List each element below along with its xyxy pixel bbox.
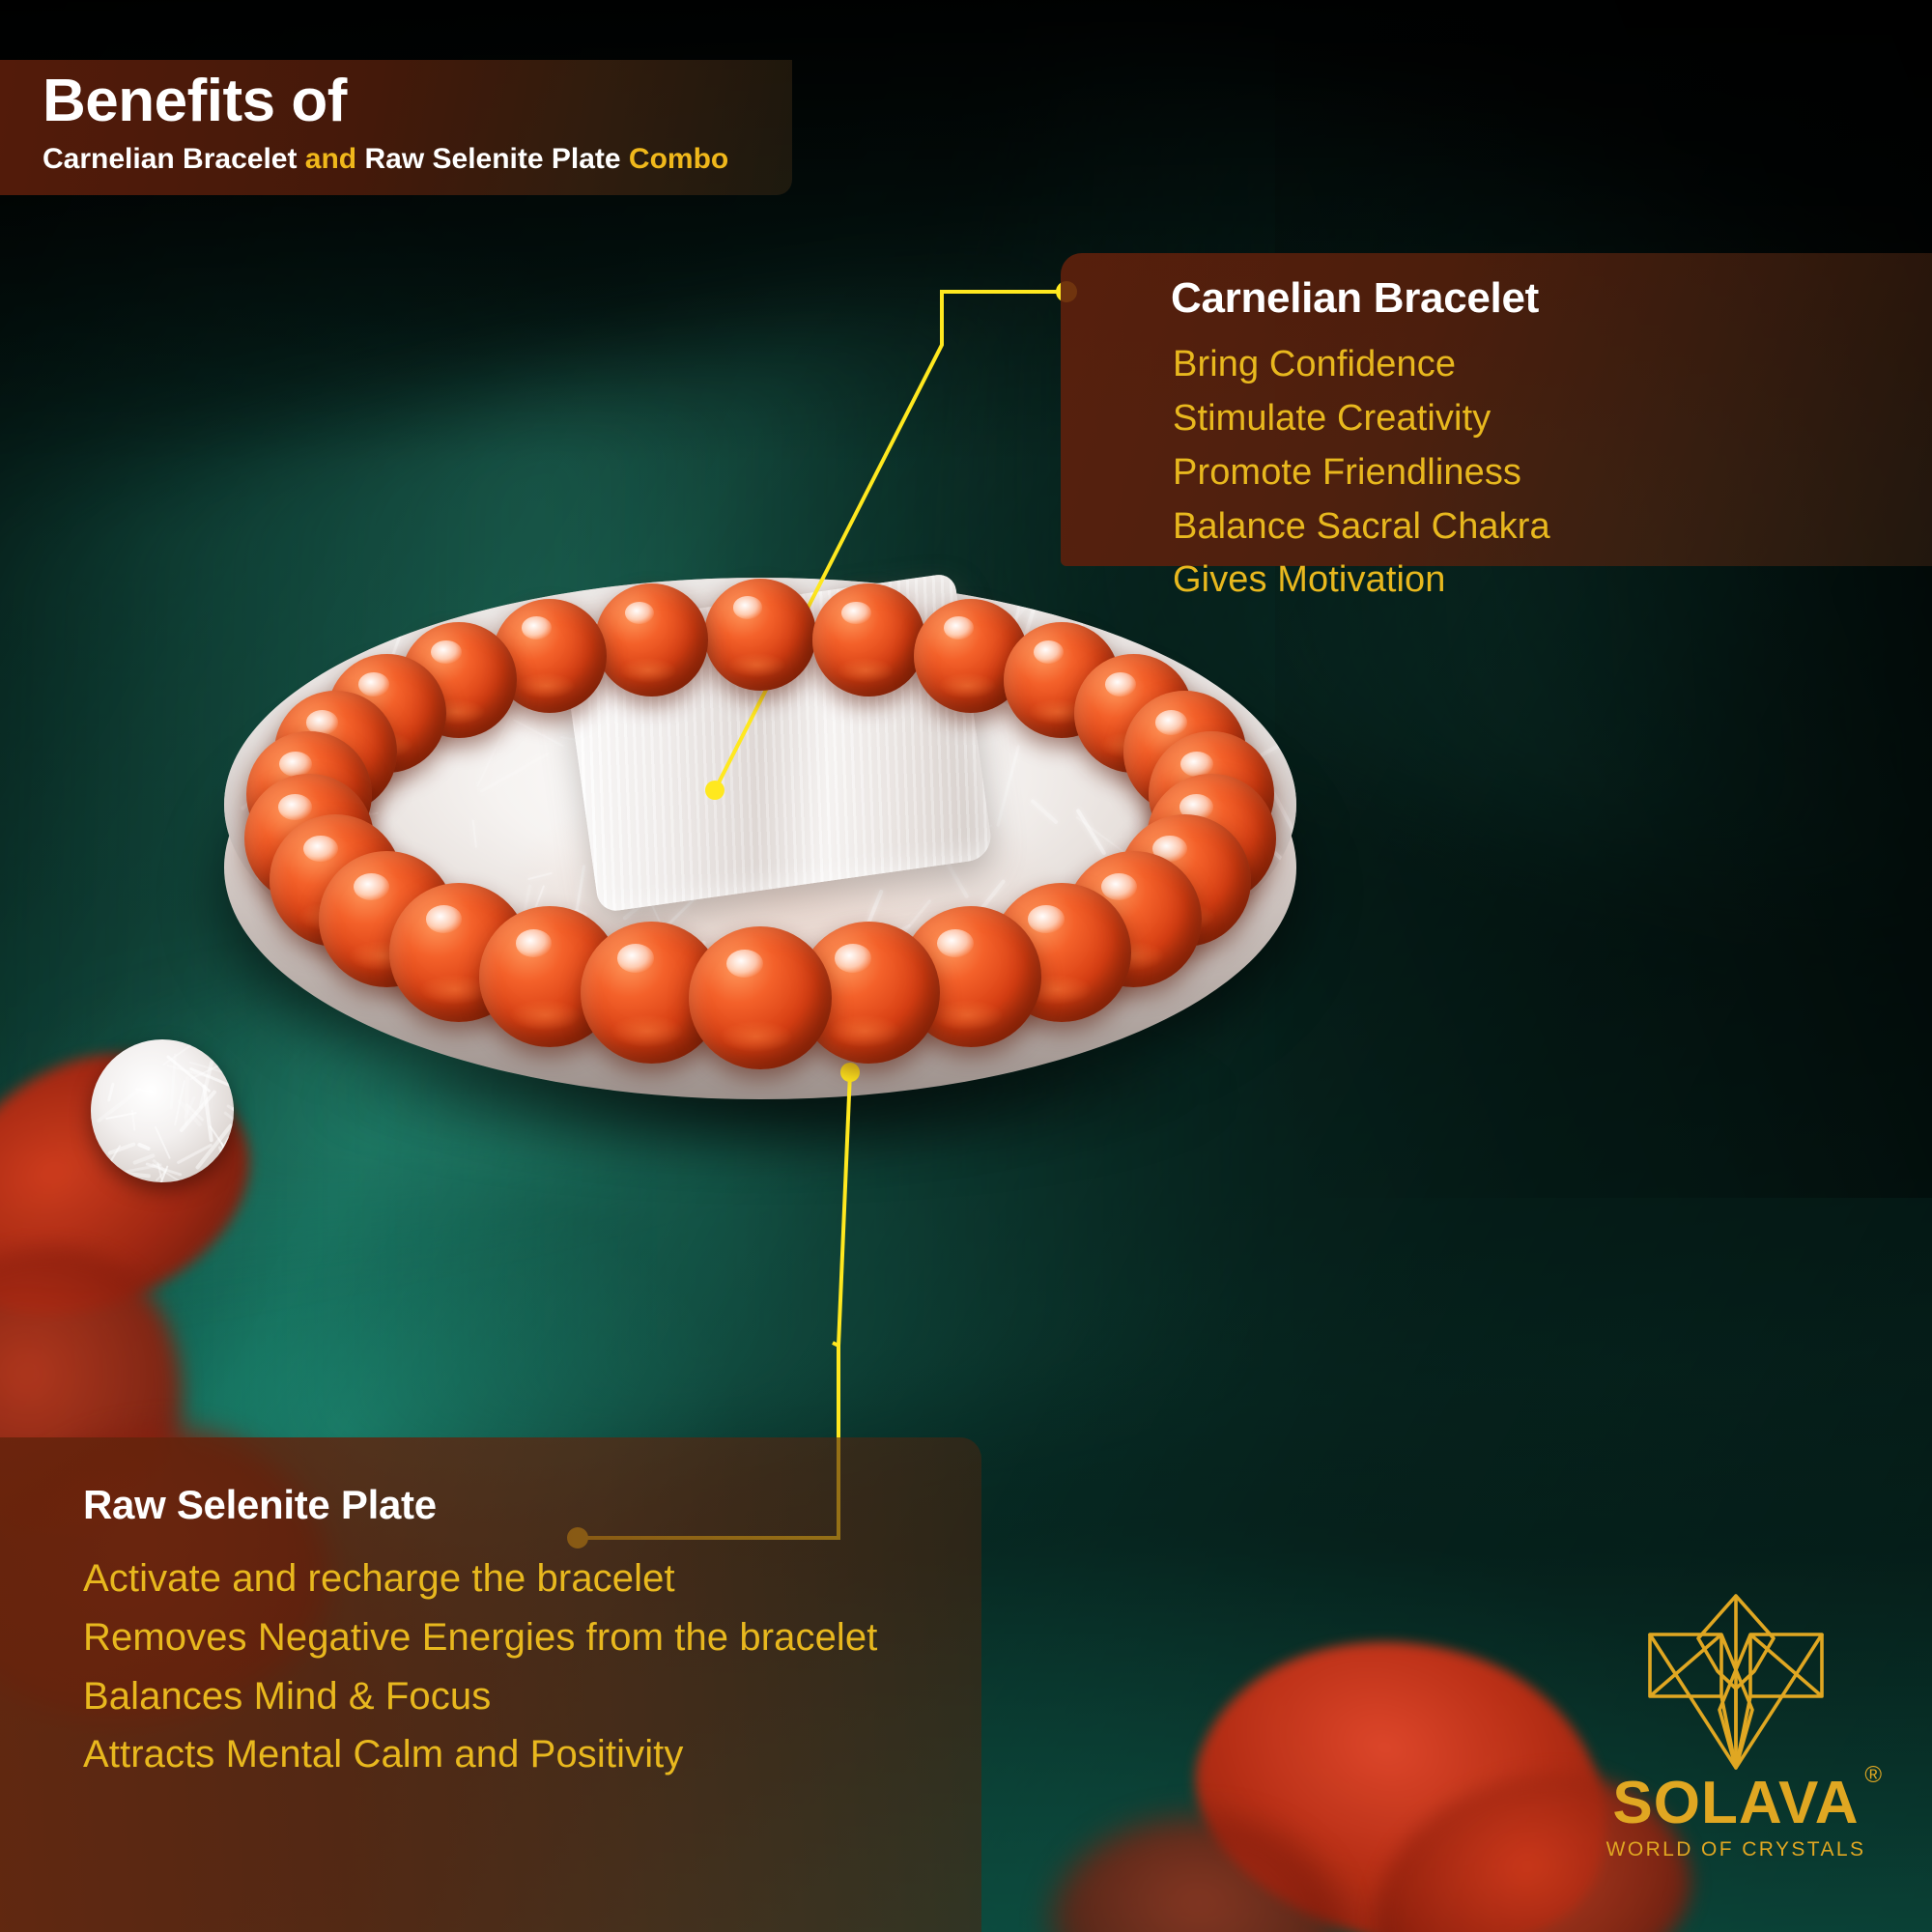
benefit-item: Removes Negative Energies from the brace… [83, 1608, 877, 1667]
infographic-canvas: Benefits of Carnelian Bracelet and Raw S… [0, 0, 1932, 1932]
crystal-fiber [1273, 617, 1293, 627]
callout-title-carnelian: Carnelian Bracelet [1171, 274, 1539, 323]
benefit-item: Stimulate Creativity [1173, 392, 1550, 446]
crystal-fiber [1282, 992, 1289, 1032]
carnelian-bead [704, 579, 816, 691]
callout-list-selenite: Activate and recharge the bracelet Remov… [83, 1549, 877, 1784]
subtitle-part-2: Raw Selenite Plate [356, 143, 629, 175]
crystal-fiber [398, 583, 406, 604]
callout-list-carnelian: Bring Confidence Stimulate Creativity Pr… [1173, 338, 1550, 608]
brand-logo: SOLAVA ® WORLD OF CRYSTALS [1577, 1592, 1895, 1911]
crystal-fiber [405, 578, 435, 606]
crystal-logo-icon [1629, 1592, 1843, 1772]
subtitle-part-1: Carnelian Bracelet [43, 143, 305, 175]
crystal-fiber [97, 1088, 143, 1124]
crystal-fiber [260, 991, 298, 1009]
crystal-fiber [107, 1142, 136, 1155]
crystal-fiber [137, 1142, 152, 1151]
crystal-fiber [250, 596, 258, 613]
callout-raw-selenite-plate: Raw Selenite Plate Activate and recharge… [0, 1437, 981, 1932]
subtitle-accent-combo: Combo [629, 143, 728, 175]
registered-mark: ® [1864, 1762, 1882, 1789]
callout-carnelian-bracelet: Carnelian Bracelet Bring Confidence Stim… [1061, 253, 1932, 566]
crystal-fiber [107, 1083, 115, 1102]
page-title: Benefits of [43, 71, 347, 131]
carnelian-bead [689, 926, 832, 1069]
benefit-item: Promote Friendliness [1173, 446, 1550, 500]
subtitle-accent-and: and [305, 143, 356, 175]
crystal-fiber [270, 581, 287, 599]
crystal-fiber [1161, 610, 1188, 620]
crystal-fiber [1185, 1016, 1275, 1022]
carnelian-bead [812, 583, 925, 696]
crystal-fiber [1136, 578, 1151, 615]
crystal-fiber [346, 591, 374, 615]
crystal-fiber [231, 975, 282, 1012]
crystal-fiber [272, 1015, 284, 1032]
raw-selenite-thumbnail [91, 1039, 234, 1182]
benefit-item: Balance Sacral Chakra [1173, 500, 1550, 554]
benefit-item: Bring Confidence [1173, 338, 1550, 392]
benefit-item: Balances Mind & Focus [83, 1667, 877, 1726]
page-subtitle: Carnelian Bracelet and Raw Selenite Plat… [43, 145, 728, 174]
crystal-fiber [226, 1069, 234, 1072]
brand-name: SOLAVA [1577, 1774, 1895, 1833]
brand-tagline: WORLD OF CRYSTALS [1577, 1839, 1895, 1860]
benefit-item: Gives Motivation [1173, 554, 1550, 608]
crystal-fiber [155, 1126, 171, 1159]
carnelian-bead [595, 583, 708, 696]
benefit-item: Activate and recharge the bracelet [83, 1549, 877, 1608]
benefit-item: Attracts Mental Calm and Positivity [83, 1725, 877, 1784]
callout-title-selenite: Raw Selenite Plate [83, 1482, 437, 1528]
